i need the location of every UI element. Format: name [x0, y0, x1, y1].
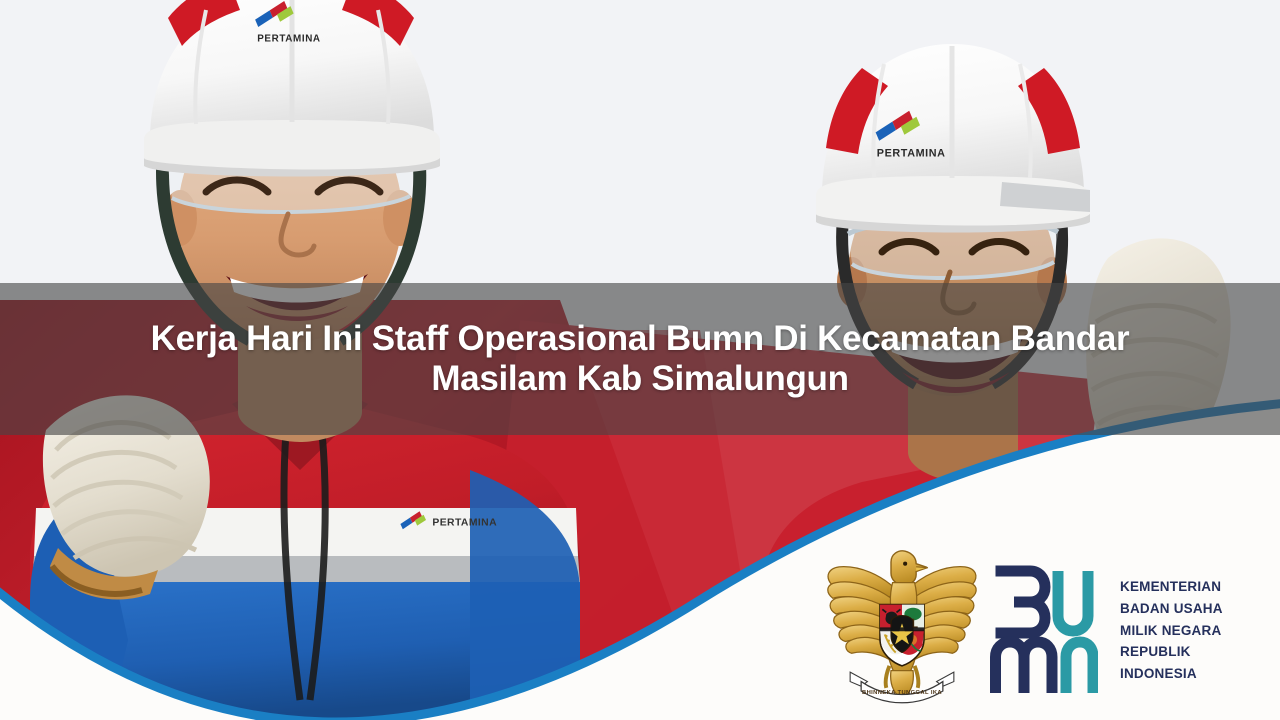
logo-lockup: BHINNEKA TUNGGAL IKA KEMENTER — [822, 548, 1223, 713]
svg-text:PERTAMINA: PERTAMINA — [257, 34, 321, 45]
svg-text:PERTAMINA: PERTAMINA — [877, 147, 946, 159]
ministry-line-5: INDONESIA — [1120, 663, 1223, 685]
title-overlay-band: Kerja Hari Ini Staff Operasional Bumn Di… — [0, 283, 1280, 435]
svg-text:PERTAMINA: PERTAMINA — [432, 518, 497, 529]
page-title: Kerja Hari Ini Staff Operasional Bumn Di… — [90, 319, 1190, 398]
ministry-line-4: REPUBLIK — [1120, 641, 1223, 663]
ministry-text-block: KEMENTERIAN BADAN USAHA MILIK NEGARA REP… — [1120, 576, 1223, 685]
garuda-pancasila-icon: BHINNEKA TUNGGAL IKA — [822, 548, 982, 713]
ministry-line-3: MILIK NEGARA — [1120, 620, 1223, 642]
job-posting-banner: PERTAMINA — [0, 0, 1280, 720]
ministry-line-2: BADAN USAHA — [1120, 598, 1223, 620]
ministry-line-1: KEMENTERIAN — [1120, 576, 1223, 598]
svg-text:BHINNEKA TUNGGAL IKA: BHINNEKA TUNGGAL IKA — [862, 690, 942, 696]
bumn-logo-icon — [990, 561, 1098, 701]
